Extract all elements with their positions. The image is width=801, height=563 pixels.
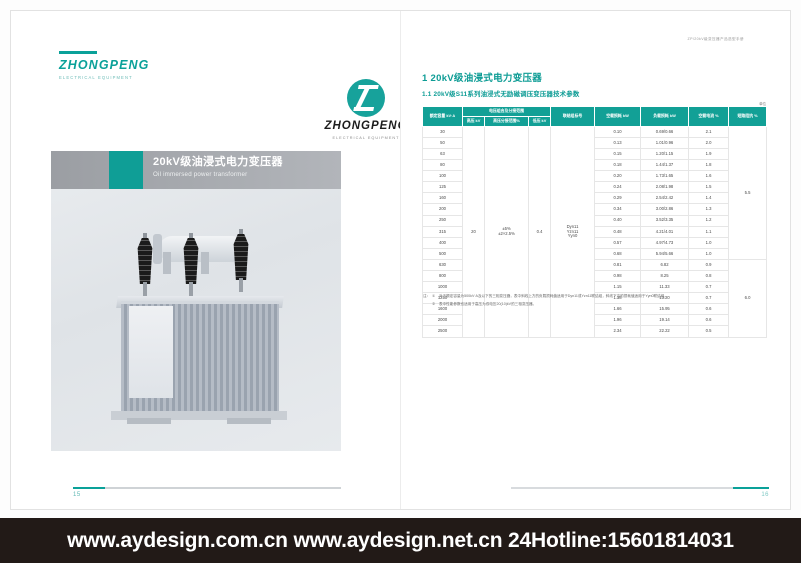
cell-load-loss: 11.33 — [641, 282, 689, 293]
footer-rule — [73, 487, 341, 489]
th-capacity: 额定容量 kV·A — [423, 107, 463, 127]
cell-capacity: 400 — [423, 237, 463, 248]
footnote-marker-1: ① — [432, 294, 439, 300]
logo-subword: ELECTRICAL EQUIPMENT — [59, 75, 209, 80]
th-voltage-group: 电压组合及分接范围 — [463, 107, 551, 117]
cell-no-load-loss: 0.98 — [595, 270, 641, 281]
left-page-number: 15 — [73, 492, 341, 498]
cell-no-load-current: 0.5 — [689, 326, 729, 337]
cell-capacity: 1000 — [423, 282, 463, 293]
cover-title-cn: 20kV级油浸式电力变压器 — [153, 156, 283, 169]
cell-load-loss: 1.44/1.37 — [641, 160, 689, 171]
cell-no-load-current: 0.7 — [689, 282, 729, 293]
cell-capacity: 63 — [423, 148, 463, 159]
cell-load-loss: 22.22 — [641, 326, 689, 337]
cell-load-loss: 4.97/4.73 — [641, 237, 689, 248]
cell-no-load-loss: 0.40 — [595, 215, 641, 226]
th-tap-range: 高压分接范围% — [485, 116, 529, 126]
center-logo-subword: ELECTRICAL EQUIPMENT — [316, 136, 400, 140]
radiator-tank — [121, 301, 279, 412]
left-page-footer: 15 — [73, 487, 341, 498]
cover-accent-square — [109, 151, 143, 189]
left-page: ZHONGPENG ELECTRICAL EQUIPMENT ZHONGPENG… — [11, 11, 400, 509]
bushing-stem — [239, 278, 243, 292]
cell-no-load-loss: 0.48 — [595, 226, 641, 237]
cover-titles: 20kV级油浸式电力变压器 Oil immersed power transfo… — [153, 156, 283, 180]
cell-no-load-loss: 1.96 — [595, 315, 641, 326]
cell-capacity: 30 — [423, 126, 463, 137]
cell-no-load-current: 1.9 — [689, 148, 729, 159]
cell-no-load-loss: 0.29 — [595, 193, 641, 204]
cell-no-load-current: 1.2 — [689, 215, 729, 226]
cell-no-load-current: 1.3 — [689, 204, 729, 215]
footnote-row-1: 注： ① 对于额定容量为500kV·A及以下的三相变压器，表中斜线上方的负载损耗… — [423, 294, 771, 300]
cell-capacity: 250 — [423, 215, 463, 226]
footnote-row-2: ② 表中性能参数也适用于高压为双电压20(10)kV的三相变压器。 — [423, 302, 771, 308]
th-no-load-current: 空载电流 % — [689, 107, 729, 127]
cell-load-loss: 6.82 — [641, 259, 689, 270]
cell-no-load-loss: 0.13 — [595, 137, 641, 148]
cell-load-loss: 8.25 — [641, 270, 689, 281]
cell-no-load-current: 1.1 — [689, 226, 729, 237]
logo-accent-bar — [59, 51, 97, 54]
section-heading-1: 1 20kV级油浸式电力变压器 — [422, 70, 542, 84]
bushing-sheds — [183, 238, 199, 284]
cell-load-loss: 19.14 — [641, 315, 689, 326]
transformer-base-skid — [111, 411, 287, 420]
cell-no-load-loss: 0.24 — [595, 182, 641, 193]
cell-no-load-current: 1.0 — [689, 237, 729, 248]
right-page-footer: 16 — [511, 487, 769, 498]
table-header-row-1: 额定容量 kV·A 电压组合及分接范围 联结组标号 空载损耗 kW 负载损耗 k… — [423, 107, 767, 117]
cell-no-load-loss: 0.57 — [595, 237, 641, 248]
th-no-load-loss: 空载损耗 kW — [595, 107, 641, 127]
cell-no-load-loss: 0.18 — [595, 160, 641, 171]
corner-brand-logo: ZHONGPENG ELECTRICAL EQUIPMENT — [59, 51, 209, 80]
transformer-photo — [103, 209, 298, 424]
cell-load-loss: 2.54/2.42 — [641, 193, 689, 204]
cell-no-load-current: 1.5 — [689, 182, 729, 193]
cell-no-load-loss: 0.20 — [595, 171, 641, 182]
cell-capacity: 500 — [423, 248, 463, 259]
product-cover-panel: 20kV级油浸式电力变压器 Oil immersed power transfo… — [51, 151, 341, 451]
cell-capacity: 50 — [423, 137, 463, 148]
cell-capacity: 80 — [423, 160, 463, 171]
cell-no-load-current: 1.8 — [689, 160, 729, 171]
cell-load-loss: 3.52/3.35 — [641, 215, 689, 226]
footnote-spacer — [423, 302, 432, 308]
catalog-spread-stage: ZHONGPENG ELECTRICAL EQUIPMENT ZHONGPENG… — [0, 0, 801, 563]
spec-table-head: 额定容量 kV·A 电压组合及分接范围 联结组标号 空载损耗 kW 负载损耗 k… — [423, 107, 767, 127]
footer-accent — [733, 487, 769, 489]
cell-capacity: 160 — [423, 193, 463, 204]
bushing-stem — [143, 282, 147, 296]
cell-capacity: 2500 — [423, 326, 463, 337]
bushing-stem — [189, 282, 193, 296]
footer-rule — [511, 487, 769, 489]
cell-no-load-current: 1.0 — [689, 248, 729, 259]
cell-no-load-loss: 1.15 — [595, 282, 641, 293]
footnote-label: 注： — [423, 294, 432, 300]
cell-no-load-loss: 0.10 — [595, 126, 641, 137]
center-logo-wordmark: ZHONGPENG — [316, 121, 400, 133]
cell-no-load-current: 0.6 — [689, 315, 729, 326]
cell-load-loss: 1.20/1.15 — [641, 148, 689, 159]
th-load-loss: 负载损耗 kW — [641, 107, 689, 127]
tank-side-panel — [129, 306, 173, 398]
cell-load-loss: 2.08/1.98 — [641, 182, 689, 193]
cell-no-load-current: 1.6 — [689, 171, 729, 182]
running-head: ZP/20kV级变压器产品选型手册 — [687, 37, 744, 42]
cell-no-load-current: 1.4 — [689, 193, 729, 204]
cell-load-loss: 0.69/0.66 — [641, 126, 689, 137]
bushing-sheds — [137, 238, 153, 284]
th-lv: 低压 kV — [529, 116, 551, 126]
th-connection: 联结组标号 — [551, 107, 595, 127]
cover-title-band: 20kV级油浸式电力变压器 Oil immersed power transfo… — [51, 151, 341, 189]
cell-no-load-current: 0.9 — [689, 259, 729, 270]
cell-no-load-current: 2.0 — [689, 137, 729, 148]
cell-no-load-loss: 0.34 — [595, 204, 641, 215]
cell-capacity: 125 — [423, 182, 463, 193]
footnote-text-2: 表中性能参数也适用于高压为双电压20(10)kV的三相变压器。 — [439, 302, 771, 308]
footer-accent — [73, 487, 105, 489]
th-impedance: 短路阻抗 % — [729, 107, 767, 127]
section-heading-2: 1.1 20kV级S11系列油浸式无励磁调压变压器技术参数 — [422, 89, 579, 98]
cell-impedance-upper: 5.5 — [729, 126, 767, 259]
cover-title-en: Oil immersed power transformer — [153, 171, 283, 180]
cell-no-load-current: 2.1 — [689, 126, 729, 137]
right-page: ZP/20kV级变压器产品选型手册 1 20kV级油浸式电力变压器 1.1 20… — [401, 11, 790, 509]
footnote-marker-2: ② — [432, 302, 439, 308]
table-footnotes: 注： ① 对于额定容量为500kV·A及以下的三相变压器，表中斜线上方的负载损耗… — [423, 294, 771, 307]
cell-no-load-loss: 0.81 — [595, 259, 641, 270]
zhongpeng-z-mark-icon — [347, 79, 385, 117]
conservator-flange — [153, 234, 162, 264]
cell-no-load-current: 0.8 — [689, 270, 729, 281]
bushing-sheds — [233, 234, 249, 280]
cell-capacity: 200 — [423, 204, 463, 215]
cell-load-loss: 3.00/2.86 — [641, 204, 689, 215]
cell-capacity: 315 — [423, 226, 463, 237]
cell-load-loss: 1.73/1.65 — [641, 171, 689, 182]
table-row: 3020±5%±2×2.5%0.4Dyn11Yzn11Yyn00.100.69/… — [423, 126, 767, 137]
watermark-banner: www.aydesign.com.cn www.aydesign.net.cn … — [0, 518, 801, 563]
cell-no-load-loss: 0.15 — [595, 148, 641, 159]
th-hv: 高压 kV — [463, 116, 485, 126]
cell-load-loss: 1.01/0.96 — [641, 137, 689, 148]
cell-no-load-loss: 2.34 — [595, 326, 641, 337]
lv-terminal-2 — [201, 252, 209, 274]
cell-load-loss: 4.21/4.01 — [641, 226, 689, 237]
cell-capacity: 630 — [423, 259, 463, 270]
cell-load-loss: 5.94/5.66 — [641, 248, 689, 259]
lv-terminal-1 — [163, 252, 171, 274]
cell-capacity: 100 — [423, 171, 463, 182]
footnote-text-1: 对于额定容量为500kV·A及以下的三相变压器，表中斜线上方的负载损耗值适用于D… — [439, 294, 771, 300]
cell-capacity: 800 — [423, 270, 463, 281]
cell-capacity: 2000 — [423, 315, 463, 326]
banner-text: www.aydesign.com.cn www.aydesign.net.cn … — [67, 529, 734, 553]
right-page-number: 16 — [511, 492, 769, 498]
cell-no-load-loss: 0.68 — [595, 248, 641, 259]
logo-wordmark: ZHONGPENG — [59, 59, 209, 72]
center-brand-logo: ZHONGPENG ELECTRICAL EQUIPMENT — [316, 79, 400, 140]
